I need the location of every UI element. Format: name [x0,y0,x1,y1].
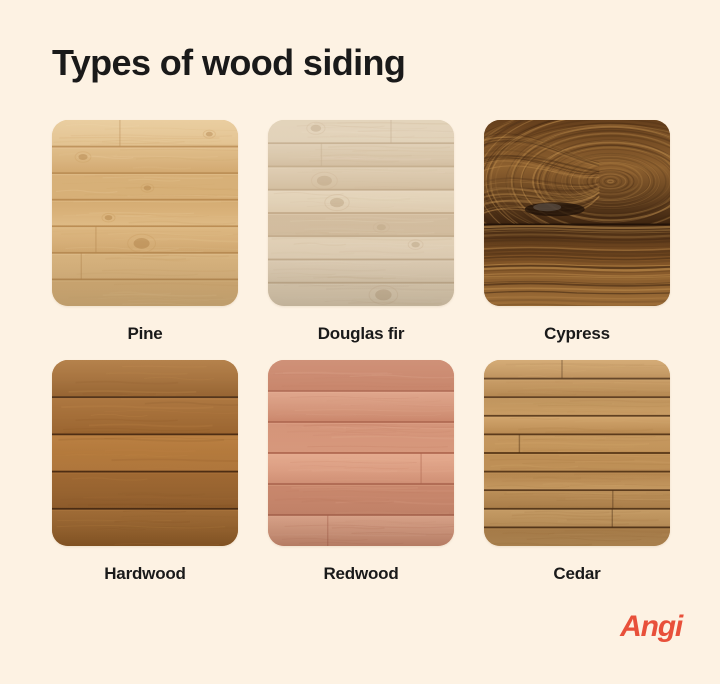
wood-type-label: Hardwood [104,562,186,586]
hardwood-wood-swatch [52,360,238,546]
douglas-fir-wood-swatch [268,120,454,306]
wood-type-cell: Cypress [484,120,670,346]
page-title: Types of wood siding [52,42,405,83]
redwood-wood-swatch [268,360,454,546]
cedar-wood-swatch [484,360,670,546]
wood-type-cell: Redwood [268,360,454,586]
wood-type-cell: Hardwood [52,360,238,586]
wood-type-cell: Douglas fir [268,120,454,346]
wood-type-label: Pine [127,322,162,346]
infographic-canvas: Types of wood siding PineDouglas firCypr… [0,0,720,684]
wood-type-cell: Cedar [484,360,670,586]
pine-wood-swatch [52,120,238,306]
wood-types-grid: PineDouglas firCypressHardwoodRedwoodCed… [52,120,670,586]
cypress-wood-swatch [484,120,670,306]
wood-type-label: Douglas fir [318,322,405,346]
wood-type-label: Cedar [553,562,600,586]
angi-logo: Angi [620,612,682,642]
wood-type-label: Redwood [323,562,398,586]
wood-type-label: Cypress [544,322,610,346]
wood-type-cell: Pine [52,120,238,346]
